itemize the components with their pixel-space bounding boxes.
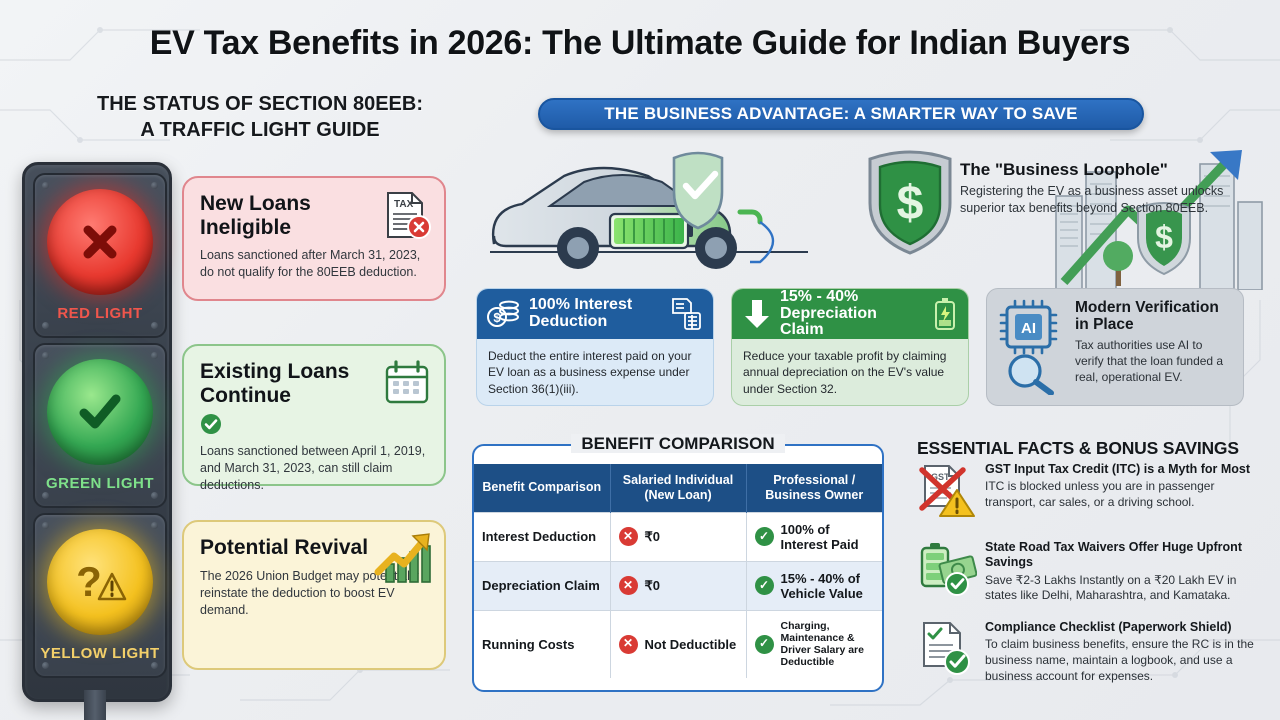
status-card-description: Loans sanctioned between April 1, 2019, … [200,443,428,494]
business-loophole-block: The "Business Loophole" Registering the … [960,160,1240,217]
left-heading-line1: THE STATUS OF SECTION 80EEB: [60,92,460,118]
svg-text:AI: AI [1021,320,1036,337]
svg-text:$: $ [493,310,501,325]
cell-business: ✓ 100% of Interest Paid [755,522,875,552]
traffic-lamp-green: GREEN LIGHT [33,343,167,508]
dollar-shield-icon: $ [862,145,958,257]
ai-chip-icon: AI [1001,301,1056,353]
traffic-lamp-yellow: ? YELLOW LIGHT [33,513,167,678]
benefit-card-header: 15% - 40% Depreciation Claim [732,289,968,339]
business-loophole-title: The "Business Loophole" [960,160,1240,180]
fact-compliance-checklist: Compliance Checklist (Paperwork Shield) … [917,620,1255,685]
fact-title: GST Input Tax Credit (ITC) is a Myth for… [985,462,1255,477]
business-advantage-banner: THE BUSINESS ADVANTAGE: A SMARTER WAY TO… [538,98,1144,130]
cross-icon: ✕ [619,527,638,546]
fact-title: Compliance Checklist (Paperwork Shield) [985,620,1255,635]
gst-blocked-warning-icon: GST [917,462,977,518]
benefit-comparison-table: Benefit Comparison Salaried Individual (… [474,464,882,678]
table-row: Interest Deduction ✕ ₹0 ✓ 100% of Intere… [474,512,882,561]
traffic-light-pole [84,690,106,720]
fact-gst-itc: GST GST Input Tax Credit (ITC) is a Myth… [917,462,1255,518]
benefit-card-heading: 100% Interest Deduction [529,297,661,331]
status-card-existing-loans: Existing Loans Continue Loans sanctioned… [182,344,446,486]
svg-text:$: $ [897,177,924,230]
fact-road-tax-waiver: State Road Tax Waivers Offer Huge Upfron… [917,540,1255,604]
cross-icon [47,189,153,295]
cell-text: 15% - 40% of Vehicle Value [781,571,875,601]
table-row: Running Costs ✕ Not Deductible ✓ Chargin… [474,610,882,677]
traffic-lamp-red-label: RED LIGHT [35,305,165,322]
business-loophole-description: Registering the EV as a business asset u… [960,183,1240,217]
svg-text:$: $ [1155,219,1173,255]
status-card-potential-revival: Potential Revival The 2026 Union Budget … [182,520,446,670]
tax-document-reject-icon: TAX [382,190,432,240]
page-title: EV Tax Benefits in 2026: The Ultimate Gu… [0,24,1280,63]
compliance-checklist-icon [917,620,977,676]
essential-facts-heading: ESSENTIAL FACTS & BONUS SAVINGS [917,438,1239,459]
battery-cash-icon [917,540,977,596]
fact-description: ITC is blocked unless you are in passeng… [985,479,1255,511]
check-icon: ✓ [755,576,774,595]
cell-salaried: ✕ Not Deductible [619,635,738,654]
benefit-card-heading: 15% - 40% Depreciation Claim [780,289,924,340]
benefit-comparison-title: BENEFIT COMPARISON [571,434,784,453]
column-header-benefit: Benefit Comparison [474,464,610,512]
benefit-card-body: Deduct the entire interest paid on your … [477,339,713,406]
column-header-salaried: Salaried Individual (New Loan) [610,464,746,512]
svg-text:?: ? [76,558,102,605]
cross-icon: ✕ [619,635,638,654]
left-section-heading: THE STATUS OF SECTION 80EEB: A TRAFFIC L… [60,92,460,143]
fact-description: To claim business benefits, ensure the R… [985,637,1255,684]
table-row: Depreciation Claim ✕ ₹0 ✓ 15% - 40% of V… [474,561,882,610]
traffic-light-housing: RED LIGHT GREEN LIGHT ? YELLOW LIGHT [22,162,172,702]
cell-text: Not Deductible [645,637,737,652]
calculator-invoice-icon [669,297,703,331]
benefit-card-interest-deduction: $ 100% Interest Deduction Deduct the ent… [476,288,714,406]
traffic-lamp-red: RED LIGHT [33,173,167,338]
benefit-card-heading: Modern Verification in Place [1075,299,1233,333]
battery-charge-icon [932,297,958,331]
benefit-card-depreciation-claim: 15% - 40% Depreciation Claim Reduce your… [731,288,969,406]
benefit-card-body: Tax authorities use AI to verify that th… [1075,337,1233,385]
calendar-icon [382,358,432,408]
left-heading-line2: A TRAFFIC LIGHT GUIDE [60,118,460,144]
cell-salaried: ✕ ₹0 [619,527,738,546]
status-card-title: Existing Loans Continue [200,360,370,407]
table-header-row: Benefit Comparison Salaried Individual (… [474,464,882,512]
ai-icon-group: AI [997,299,1069,400]
traffic-lamp-green-label: GREEN LIGHT [35,475,165,492]
cell-text: Charging, Maintenance & Driver Salary ar… [781,620,875,669]
cell-text: ₹0 [645,578,661,593]
row-label: Running Costs [482,637,602,652]
cell-business: ✓ Charging, Maintenance & Driver Salary … [755,620,875,669]
check-icon [47,359,153,465]
question-warning-icon: ? [47,529,153,635]
traffic-lamp-yellow-label: YELLOW LIGHT [35,645,165,662]
cell-salaried: ✕ ₹0 [619,576,738,595]
fact-description: Save ₹2-3 Lakhs Instantly on a ₹20 Lakh … [985,573,1255,605]
status-card-description: Loans sanctioned after March 31, 2023, d… [200,247,428,281]
column-header-business: Professional / Business Owner [746,464,882,512]
magnifier-icon [1010,356,1051,393]
coins-dollar-icon: $ [487,297,521,331]
cell-text: 100% of Interest Paid [781,522,875,552]
growth-chart-arrow-icon [372,530,434,586]
svg-text:TAX: TAX [394,199,414,210]
check-icon: ✓ [755,635,774,654]
benefit-comparison-title-wrap: BENEFIT COMPARISON [474,434,882,454]
down-arrow-icon [742,297,772,331]
row-label: Depreciation Claim [482,578,602,593]
status-card-new-loans: New Loans Ineligible Loans sanctioned af… [182,176,446,301]
row-label: Interest Deduction [482,529,602,544]
check-circle-icon [200,413,222,435]
electric-car-charging-icon [478,140,858,280]
benefit-comparison-panel: BENEFIT COMPARISON Benefit Comparison Sa… [472,444,884,692]
cross-icon: ✕ [619,576,638,595]
benefit-card-header: $ 100% Interest Deduction [477,289,713,339]
cell-business: ✓ 15% - 40% of Vehicle Value [755,571,875,601]
benefit-card-modern-verification: AI Modern Verification in Place Tax auth… [986,288,1244,406]
cell-text: ₹0 [645,529,661,544]
check-icon: ✓ [755,527,774,546]
fact-title: State Road Tax Waivers Offer Huge Upfron… [985,540,1255,571]
benefit-card-body: Reduce your taxable profit by claiming a… [732,339,968,406]
